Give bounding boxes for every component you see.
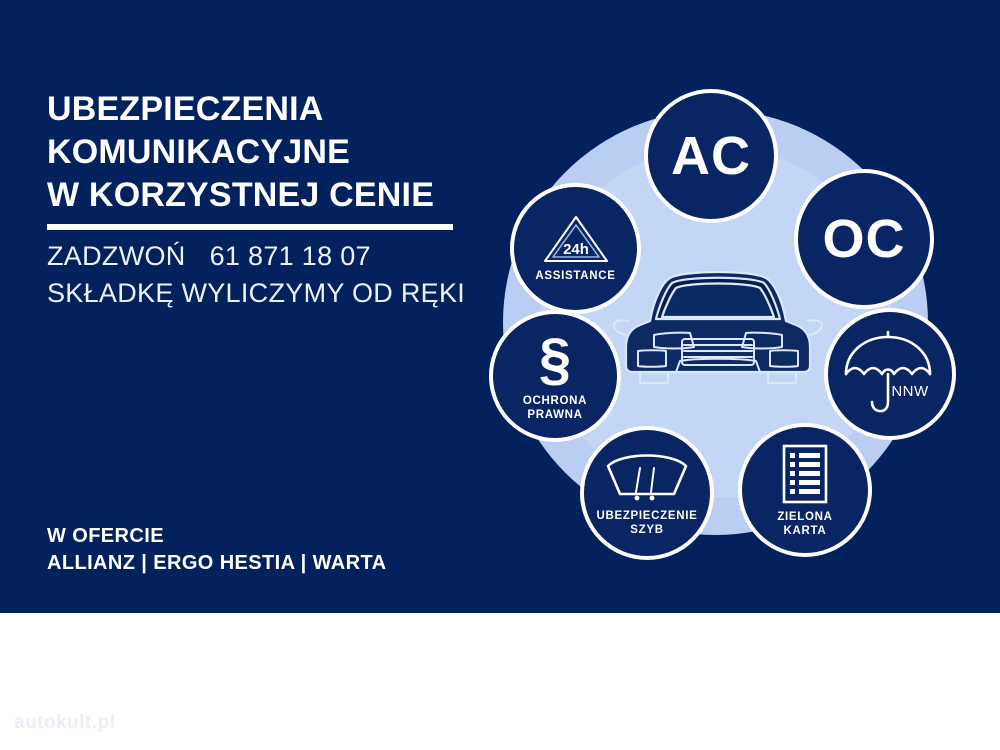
badge-zielona-karta-label-2: KARTA [784, 525, 827, 537]
headline-line-3: W KORZYSTNEJ CENIE [47, 174, 477, 217]
coverage-diagram: 24h ASSISTANCE AC OC [480, 78, 980, 588]
badge-szyby-label-2: SZYB [630, 524, 663, 536]
page-title: UBEZPIECZENIA KOMUNIKACYJNE W KORZYSTNEJ… [47, 88, 477, 217]
warning-triangle-icon: 24h [543, 214, 609, 264]
badge-ac-label: AC [671, 129, 751, 183]
watermark: autokult.pl [14, 712, 116, 734]
headline-divider [47, 224, 453, 230]
footer-panel: Rzepecki Mroczkowski [0, 613, 1000, 750]
hero-panel: UBEZPIECZENIA KOMUNIKACYJNE W KORZYSTNEJ… [0, 0, 1000, 613]
insurance-banner: UBEZPIECZENIA KOMUNIKACYJNE W KORZYSTNEJ… [0, 0, 1000, 750]
badge-ac[interactable]: AC [644, 89, 778, 223]
phone-number[interactable]: 61 871 18 07 [210, 241, 371, 271]
badge-zielona-karta-label: ZIELONA KARTA [777, 510, 832, 538]
badge-oc[interactable]: OC [794, 169, 934, 309]
badge-zielona-karta-label-1: ZIELONA [777, 511, 832, 523]
umbrella-icon: NNW [838, 328, 942, 420]
badge-nnw[interactable]: NNW [824, 308, 956, 440]
badge-ochrona-prawna-label-2: PRAWNA [527, 409, 582, 421]
headline-line-1: UBEZPIECZENIA [47, 88, 477, 131]
partners-block: W OFERCIE ALLIANZ | ERGO HESTIA | WARTA [47, 523, 386, 577]
badge-szyby[interactable]: UBEZPIECZENIE SZYB [580, 426, 714, 560]
contact-copy: ZADZWOŃ61 871 18 07 SKŁADKĘ WYLICZYMY OD… [47, 238, 497, 312]
premium-subline: SKŁADKĘ WYLICZYMY OD RĘKI [47, 275, 497, 312]
call-to-action-line: ZADZWOŃ61 871 18 07 [47, 238, 497, 275]
badge-ochrona-prawna-label: OCHRONA PRAWNA [523, 394, 587, 422]
assistance-inner-text: 24h [563, 241, 589, 258]
nnw-inner-text: NNW [891, 383, 929, 400]
document-card-icon [780, 443, 830, 505]
badge-ochrona-prawna[interactable]: § OCHRONA PRAWNA [489, 310, 621, 442]
badge-szyby-label: UBEZPIECZENIE SZYB [596, 509, 697, 537]
section-sign-icon: § [539, 331, 571, 389]
call-label: ZADZWOŃ [47, 241, 186, 271]
badge-szyby-label-1: UBEZPIECZENIE [596, 510, 697, 522]
badge-assistance-label: ASSISTANCE [535, 269, 615, 283]
headline-line-2: KOMUNIKACYJNE [47, 131, 477, 174]
badge-ochrona-prawna-label-1: OCHRONA [523, 395, 587, 407]
car-front-icon [610, 263, 826, 387]
windshield-wiper-icon [602, 450, 692, 504]
badge-oc-label: OC [823, 212, 906, 266]
offer-partners: ALLIANZ | ERGO HESTIA | WARTA [47, 550, 386, 577]
badge-zielona-karta[interactable]: ZIELONA KARTA [738, 423, 872, 557]
offer-title: W OFERCIE [47, 523, 386, 550]
badge-assistance[interactable]: 24h ASSISTANCE [510, 183, 641, 314]
